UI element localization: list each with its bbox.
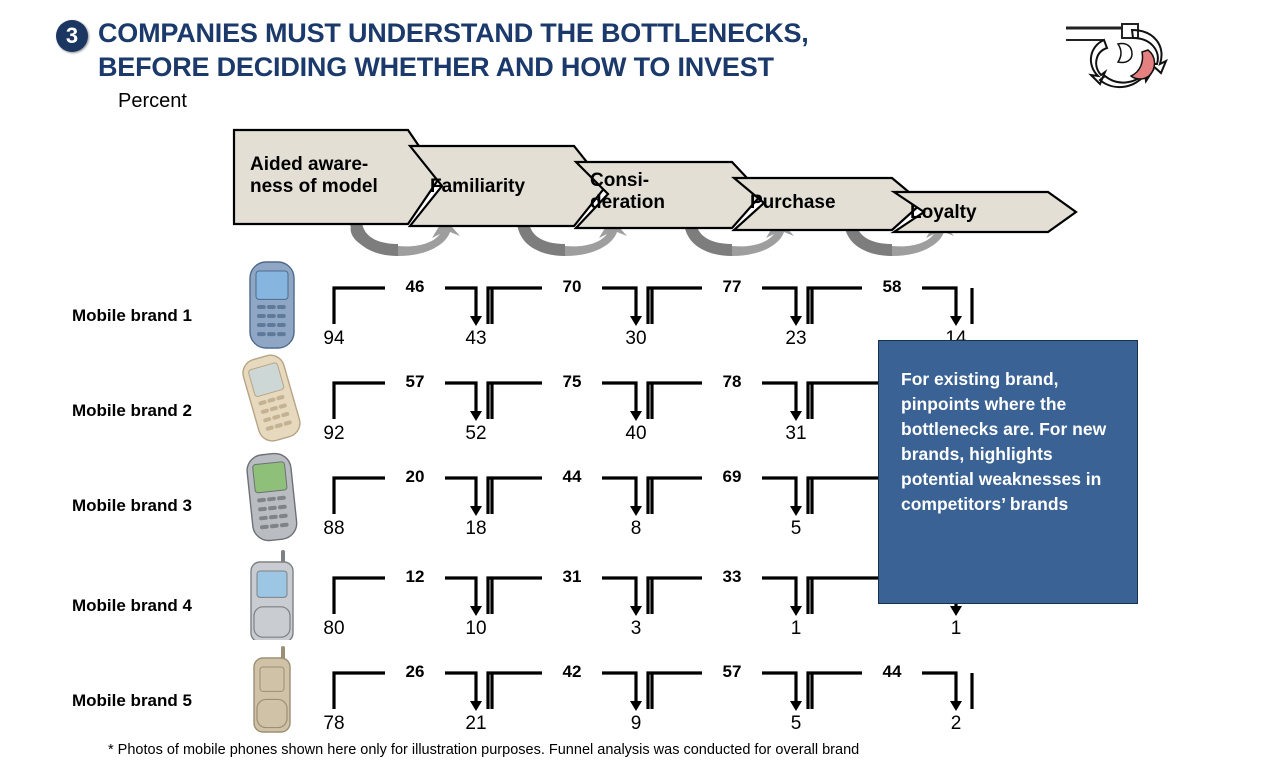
dropoff-percent: 44 — [862, 662, 922, 682]
stage-value: 78 — [304, 713, 364, 735]
circular-arrows-logo-icon — [1060, 14, 1180, 94]
dropoff-percent: 26 — [385, 662, 445, 682]
funnel-stage-label-1: Aided aware- ness of model — [250, 154, 410, 198]
dropoff-percent: 20 — [385, 467, 445, 487]
title-line-2: BEFORE DECIDING WHETHER AND HOW TO INVES… — [98, 50, 998, 84]
stage-value: 5 — [766, 518, 826, 540]
stage-value: 80 — [304, 618, 364, 640]
stage-value: 52 — [446, 423, 506, 445]
funnel-stage-label-4: Purchase — [750, 192, 890, 214]
insight-callout-box: For existing brand, pinpoints where the … — [878, 340, 1138, 604]
stage-value: 31 — [766, 423, 826, 445]
stage-value: 9 — [606, 713, 666, 735]
dropoff-percent: 57 — [385, 372, 445, 392]
dropoff-percent: 77 — [702, 277, 762, 297]
page-title: COMPANIES MUST UNDERSTAND THE BOTTLENECK… — [98, 16, 998, 84]
funnel-stage-label-5: Loyalty — [910, 202, 1040, 224]
slide-number-badge: 3 — [56, 20, 88, 52]
dropoff-percent: 69 — [702, 467, 762, 487]
dropoff-percent: 78 — [702, 372, 762, 392]
funnel-stage-label-2: Familiarity — [430, 176, 580, 198]
dropoff-percent: 58 — [862, 277, 922, 297]
stage-value: 5 — [766, 713, 826, 735]
stage-value: 30 — [606, 328, 666, 350]
subtitle-unit: Percent — [118, 90, 187, 113]
stage-value: 21 — [446, 713, 506, 735]
dropoff-percent: 12 — [385, 567, 445, 587]
stage-value: 2 — [926, 713, 986, 735]
stage-value: 94 — [304, 328, 364, 350]
dropoff-percent: 33 — [702, 567, 762, 587]
slide-canvas: 3 COMPANIES MUST UNDERSTAND THE BOTTLENE… — [0, 0, 1280, 783]
stage-value: 1 — [766, 618, 826, 640]
dropoff-percent: 42 — [542, 662, 602, 682]
funnel-stage-label-3: Consi- deration — [590, 170, 730, 214]
funnel-row: Mobile brand 5264257447821952 — [0, 647, 1280, 742]
dropoff-percent: 31 — [542, 567, 602, 587]
dropoff-percent: 57 — [702, 662, 762, 682]
stage-value: 40 — [606, 423, 666, 445]
stage-value: 92 — [304, 423, 364, 445]
dropoff-percent: 46 — [385, 277, 445, 297]
stage-value: 43 — [446, 328, 506, 350]
title-line-1: COMPANIES MUST UNDERSTAND THE BOTTLENECK… — [98, 18, 809, 48]
dropoff-percent: 70 — [542, 277, 602, 297]
stage-value: 18 — [446, 518, 506, 540]
stage-value: 23 — [766, 328, 826, 350]
stage-value: 8 — [606, 518, 666, 540]
dropoff-percent: 44 — [542, 467, 602, 487]
dropoff-percent: 75 — [542, 372, 602, 392]
funnel-stage-banner: Aided aware- ness of model Familiarity C… — [232, 128, 1082, 256]
stage-value: 1 — [926, 618, 986, 640]
stage-value: 88 — [304, 518, 364, 540]
footnote: * Photos of mobile phones shown here onl… — [108, 742, 859, 758]
stage-value: 10 — [446, 618, 506, 640]
stage-value: 3 — [606, 618, 666, 640]
